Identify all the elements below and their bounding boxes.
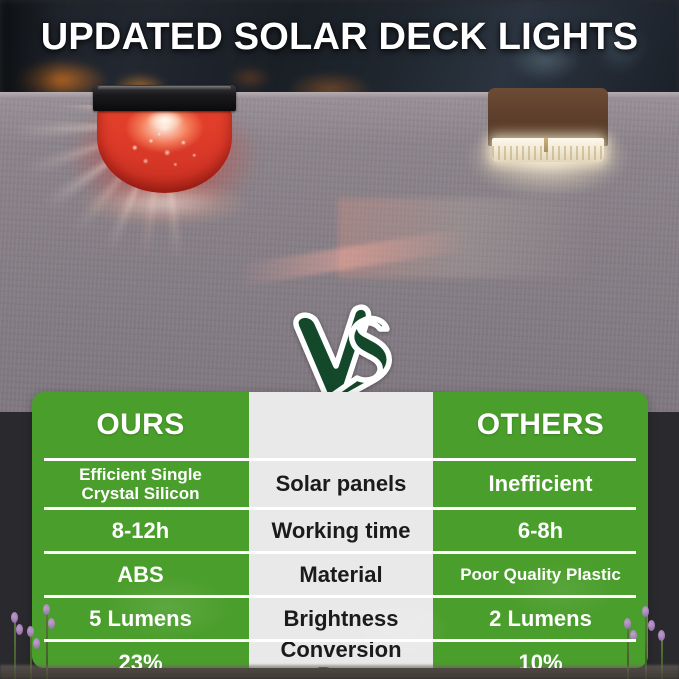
cell-ours-solar-panels: Efficient Single Crystal Silicon (32, 461, 249, 507)
floor-light-pool (56, 185, 272, 245)
page-title: UPDATED SOLAR DECK LIGHTS (41, 16, 639, 59)
table-row: 5 Lumens Brightness 2 Lumens (32, 598, 648, 639)
column-header-feature (249, 392, 433, 458)
row-divider (32, 595, 648, 598)
cell-feature-conversion-rate: Conversion Rate (249, 642, 433, 668)
cell-ours-working-time: 8-12h (32, 510, 249, 551)
cell-others-material: Poor Quality Plastic (433, 554, 648, 595)
cell-ours-line2: Crystal Silicon (81, 484, 199, 503)
cell-ours-brightness: 5 Lumens (32, 598, 249, 639)
right-solar-deck-light (488, 88, 608, 188)
cell-feature-solar-panels: Solar panels (249, 461, 433, 507)
row-divider (32, 458, 648, 461)
left-solar-deck-light (84, 85, 244, 205)
comparison-table: OURS OTHERS Efficient Single Crystal Sil… (32, 392, 648, 668)
cell-others-brightness: 2 Lumens (433, 598, 648, 639)
cell-ours-conversion-rate: 23% (32, 642, 249, 668)
column-header-ours: OURS (32, 392, 249, 458)
cell-feature-material: Material (249, 554, 433, 595)
cell-feature-brightness: Brightness (249, 598, 433, 639)
cell-others-solar-panels: Inefficient (433, 461, 648, 507)
table-header-row: OURS OTHERS (32, 392, 648, 458)
cell-others-conversion-rate: 10% (433, 642, 648, 668)
table-row: 8-12h Working time 6-8h (32, 510, 648, 551)
table-row: 23% Conversion Rate 10% (32, 642, 648, 668)
lens-prism-texture (492, 146, 604, 160)
lens-stem (544, 138, 548, 152)
row-divider (32, 507, 648, 510)
column-header-others: OTHERS (433, 392, 648, 458)
title-band: UPDATED SOLAR DECK LIGHTS (0, 0, 679, 92)
light-spill (338, 198, 668, 278)
cell-feature-working-time: Working time (249, 510, 433, 551)
table-row: Efficient Single Crystal Silicon Solar p… (32, 461, 648, 507)
row-divider (32, 551, 648, 554)
cell-others-working-time: 6-8h (433, 510, 648, 551)
table-row: ABS Material Poor Quality Plastic (32, 554, 648, 595)
cell-ours-material: ABS (32, 554, 249, 595)
row-divider (32, 639, 648, 642)
cell-ours-line1: Efficient Single (79, 465, 202, 484)
